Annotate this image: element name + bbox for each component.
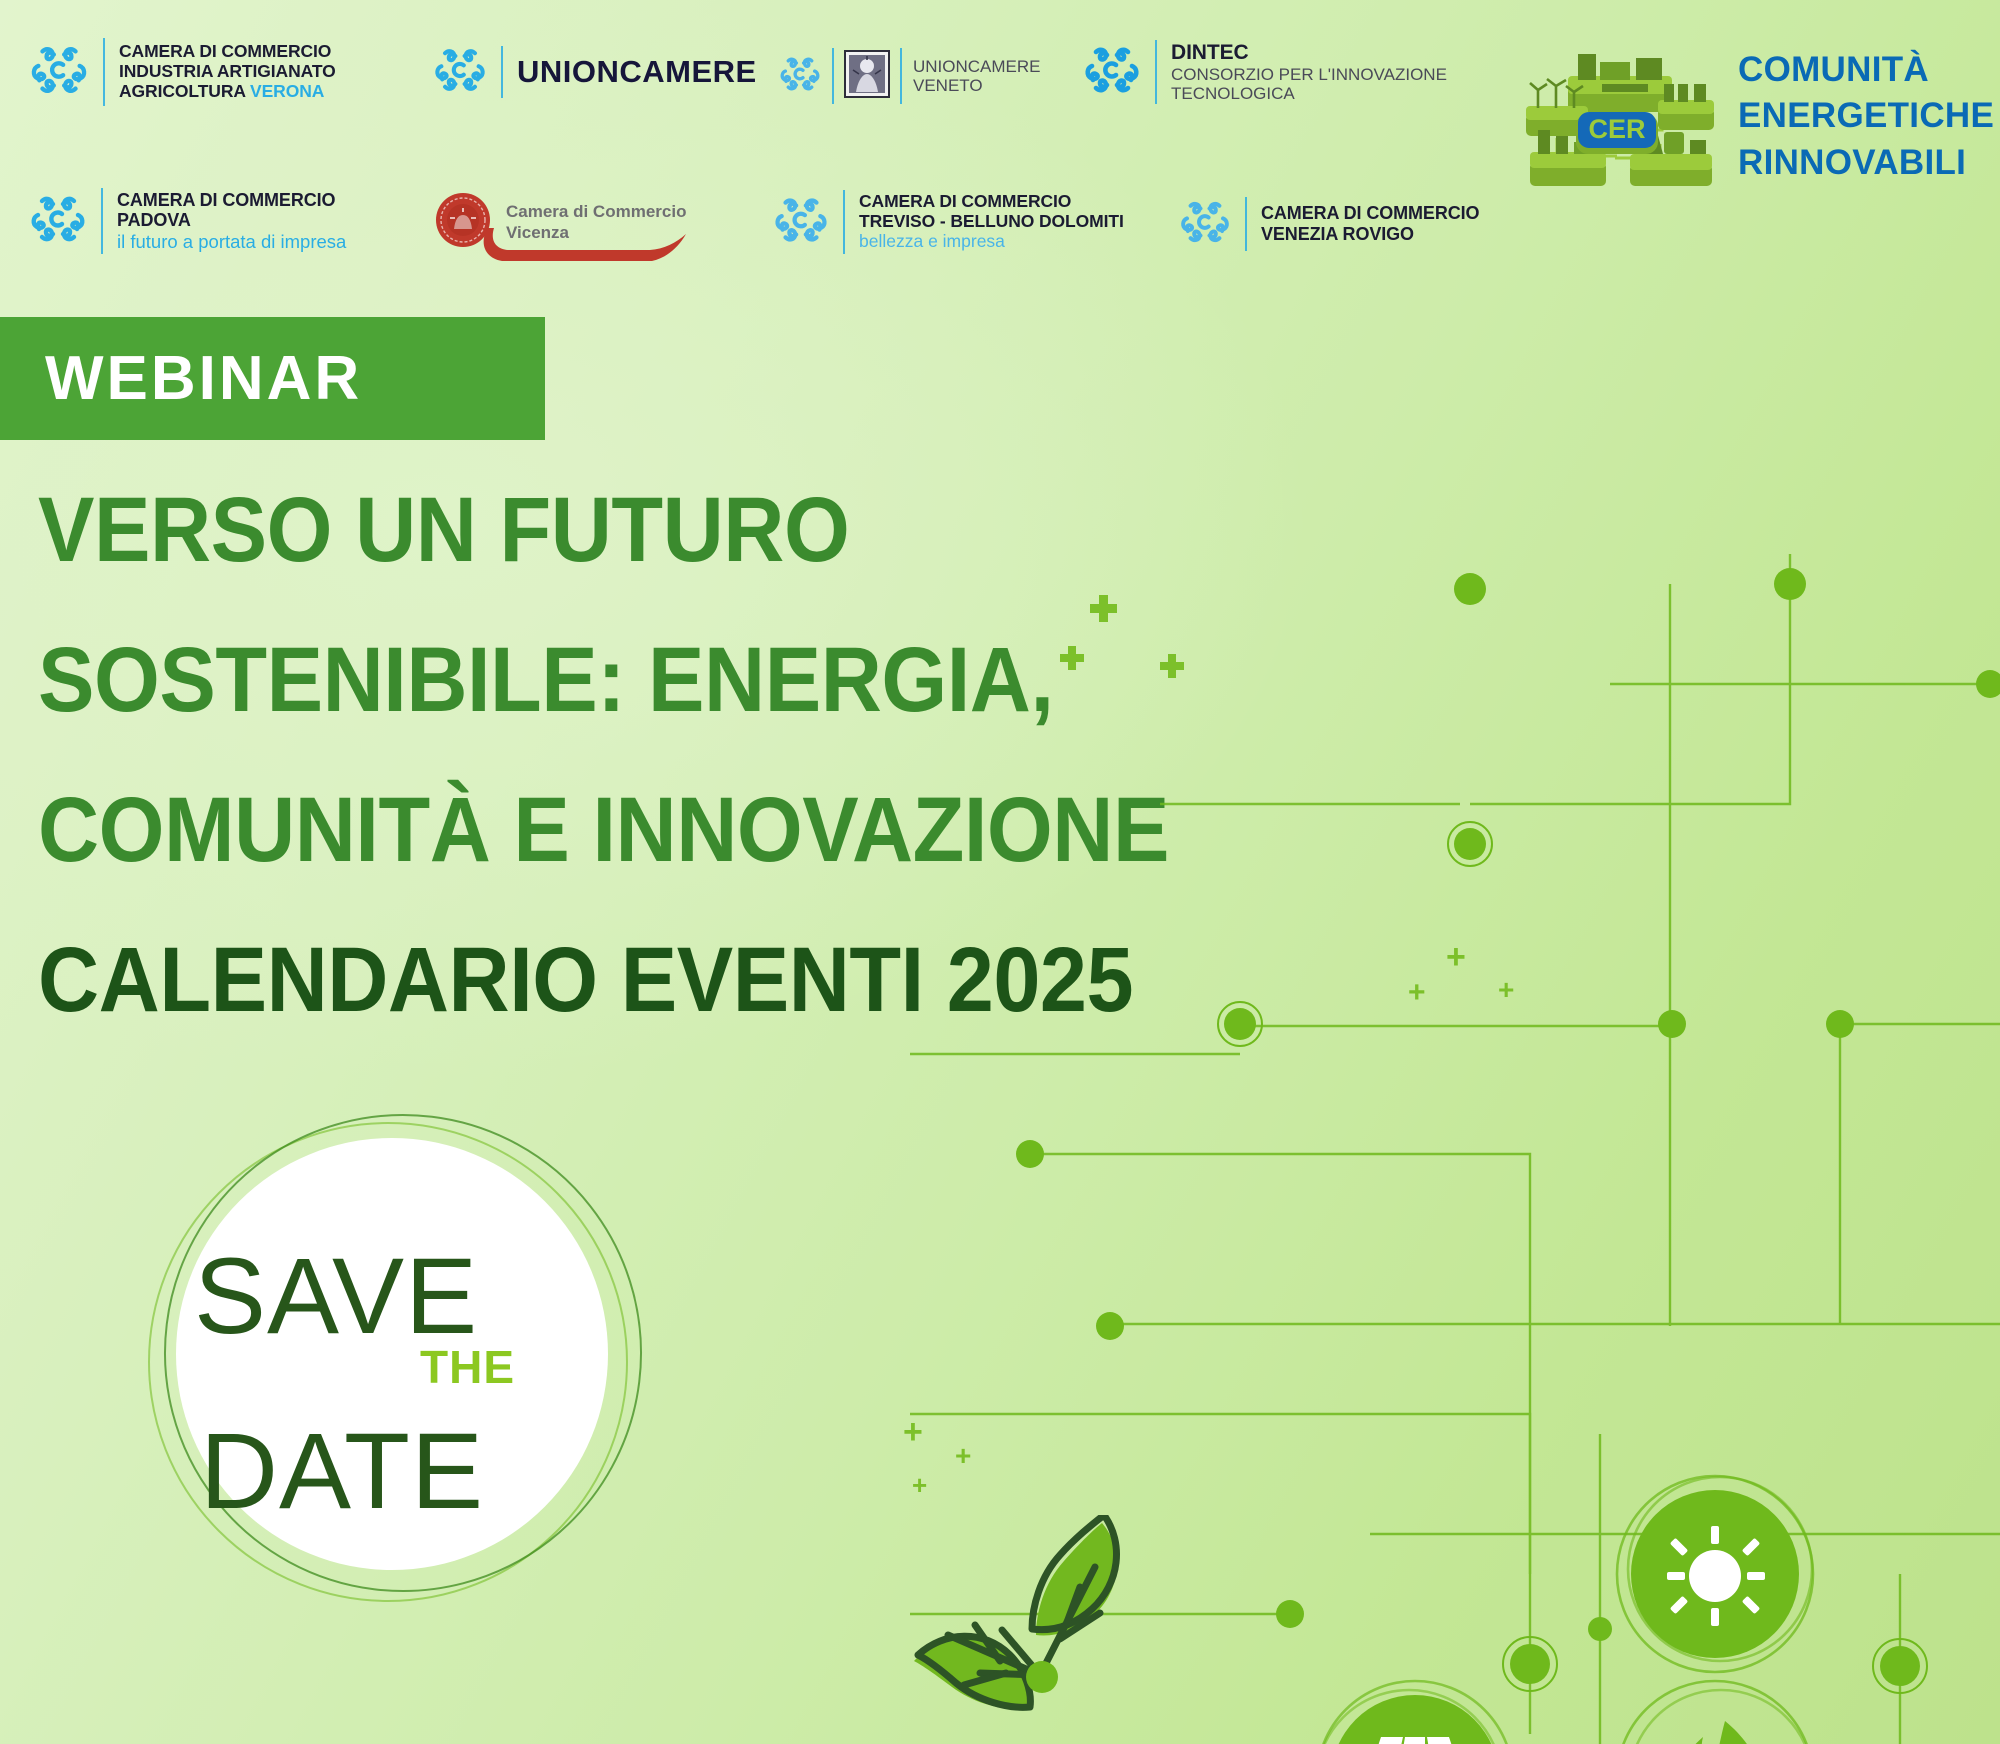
plus-decoration: + bbox=[1446, 940, 1466, 974]
cc-swirl-icon bbox=[1178, 195, 1232, 254]
logo-divider bbox=[1155, 40, 1157, 104]
vicenza-gondola-swoosh-icon bbox=[480, 212, 690, 270]
logo-text-block: CAMERA DI COMMERCIO VENEZIA ROVIGO bbox=[1261, 203, 1479, 244]
logo-divider bbox=[103, 38, 105, 106]
logo-line: UNIONCAMERE bbox=[913, 57, 1041, 76]
logo-line: TREVISO - BELLUNO DOLOMITI bbox=[859, 212, 1124, 232]
plus-decoration: + bbox=[903, 1415, 923, 1449]
logo-divider bbox=[1245, 197, 1247, 251]
logo-camera-di-commercio-padova: CAMERA DI COMMERCIO PADOVA il futuro a p… bbox=[28, 188, 346, 254]
plus-decoration: + bbox=[955, 1442, 971, 1470]
save-word: SAVE bbox=[194, 1242, 478, 1350]
logo-divider bbox=[843, 190, 845, 254]
logo-text-block: UNIONCAMERE VENETO bbox=[913, 57, 1041, 96]
leaf-flame-icon bbox=[1617, 1681, 1813, 1744]
sun-icon bbox=[1617, 1476, 1813, 1672]
logo-camera-di-commercio-vicenza: Camera di Commercio Vicenza bbox=[434, 190, 686, 254]
plus-decoration: + bbox=[912, 1472, 927, 1498]
logo-camera-di-commercio-venezia-rovigo: CAMERA DI COMMERCIO VENEZIA ROVIGO bbox=[1178, 197, 1479, 251]
logo-line: VENETO bbox=[913, 76, 1041, 95]
logo-line: DINTEC bbox=[1171, 41, 1447, 65]
logo-line: CAMERA DI COMMERCIO bbox=[859, 192, 1124, 212]
plus-decoration: + bbox=[1498, 976, 1514, 1004]
logo-text-block: DINTEC CONSORZIO PER L'INNOVAZIONE TECNO… bbox=[1171, 41, 1447, 104]
cc-swirl-icon bbox=[28, 39, 90, 106]
logo-divider bbox=[101, 188, 103, 254]
logo-line: CAMERA DI COMMERCIO bbox=[1261, 203, 1479, 224]
logo-line: AGRICOLTURA VERONA bbox=[119, 82, 336, 102]
logo-line: PADOVA bbox=[117, 210, 346, 231]
cer-badge-label: CER bbox=[1588, 114, 1645, 144]
logo-line: INDUSTRIA ARTIGIANATO bbox=[119, 62, 336, 82]
cer-line: ENERGETICHE bbox=[1738, 93, 1994, 139]
cer-line: COMUNITÀ bbox=[1738, 47, 1994, 93]
logo-line: il futuro a portata di impresa bbox=[117, 231, 346, 252]
logo-dintec: DINTEC CONSORZIO PER L'INNOVAZIONE TECNO… bbox=[1082, 40, 1447, 104]
logo-comunita-energetiche-rinnovabili: CER COMUNITÀ ENERGETICHE RINNOVABILI bbox=[1512, 34, 1994, 199]
logo-line: TECNOLOGICA bbox=[1171, 84, 1447, 103]
seal-text: SAVE THE DATE bbox=[142, 1112, 642, 1612]
webinar-badge: WEBINAR bbox=[0, 317, 545, 440]
two-leaves-icon bbox=[890, 1515, 1180, 1744]
logo-divider bbox=[501, 46, 503, 98]
cc-swirl-icon bbox=[432, 42, 488, 103]
logo-camera-di-commercio-treviso-belluno-dolomiti: CAMERA DI COMMERCIO TREVISO - BELLUNO DO… bbox=[772, 190, 1124, 254]
cer-line: RINNOVABILI bbox=[1738, 140, 1994, 186]
logo-line: UNIONCAMERE bbox=[517, 54, 757, 89]
logo-text-block: UNIONCAMERE bbox=[517, 54, 757, 89]
logo-line: VENEZIA ROVIGO bbox=[1261, 224, 1479, 245]
logo-unioncamere: UNIONCAMERE bbox=[432, 46, 757, 98]
cer-network-icon: CER bbox=[1512, 34, 1722, 199]
cc-swirl-icon bbox=[778, 52, 822, 101]
logo-camera-di-commercio-verona: CAMERA DI COMMERCIO INDUSTRIA ARTIGIANAT… bbox=[28, 38, 336, 106]
logo-line: bellezza e impresa bbox=[859, 232, 1124, 252]
partner-logo-bar: CAMERA DI COMMERCIO INDUSTRIA ARTIGIANAT… bbox=[0, 0, 2000, 300]
logo-unioncamere-veneto: UNIONCAMERE VENETO bbox=[778, 48, 1041, 104]
save-the-date-seal: SAVE THE DATE bbox=[142, 1112, 642, 1612]
webinar-badge-label: WEBINAR bbox=[0, 343, 362, 414]
logo-line: CAMERA DI COMMERCIO bbox=[117, 190, 346, 211]
logo-line: CONSORZIO PER L'INNOVAZIONE bbox=[1171, 65, 1447, 84]
logo-line: CAMERA DI COMMERCIO bbox=[119, 42, 336, 62]
logo-text-block: CAMERA DI COMMERCIO PADOVA il futuro a p… bbox=[117, 190, 346, 252]
poster-canvas: CAMERA DI COMMERCIO INDUSTRIA ARTIGIANAT… bbox=[0, 0, 2000, 1744]
logo-text-block: CAMERA DI COMMERCIO INDUSTRIA ARTIGIANAT… bbox=[119, 42, 336, 102]
solar-panel-icon bbox=[1316, 1681, 1513, 1744]
logo-text-block: CAMERA DI COMMERCIO TREVISO - BELLUNO DO… bbox=[859, 192, 1124, 252]
cc-swirl-icon bbox=[1082, 40, 1142, 105]
logo-divider bbox=[832, 48, 834, 104]
plus-decoration: + bbox=[1408, 978, 1426, 1008]
date-word: DATE bbox=[200, 1417, 484, 1525]
cc-swirl-icon bbox=[28, 189, 88, 254]
plus-decoration-group bbox=[910, 595, 1184, 1102]
the-word: THE bbox=[420, 1340, 515, 1394]
cer-text-block: COMUNITÀ ENERGETICHE RINNOVABILI bbox=[1738, 47, 1994, 186]
logo-divider bbox=[900, 48, 902, 104]
cc-swirl-icon bbox=[772, 191, 830, 254]
veneto-lion-crest-icon bbox=[844, 50, 890, 103]
